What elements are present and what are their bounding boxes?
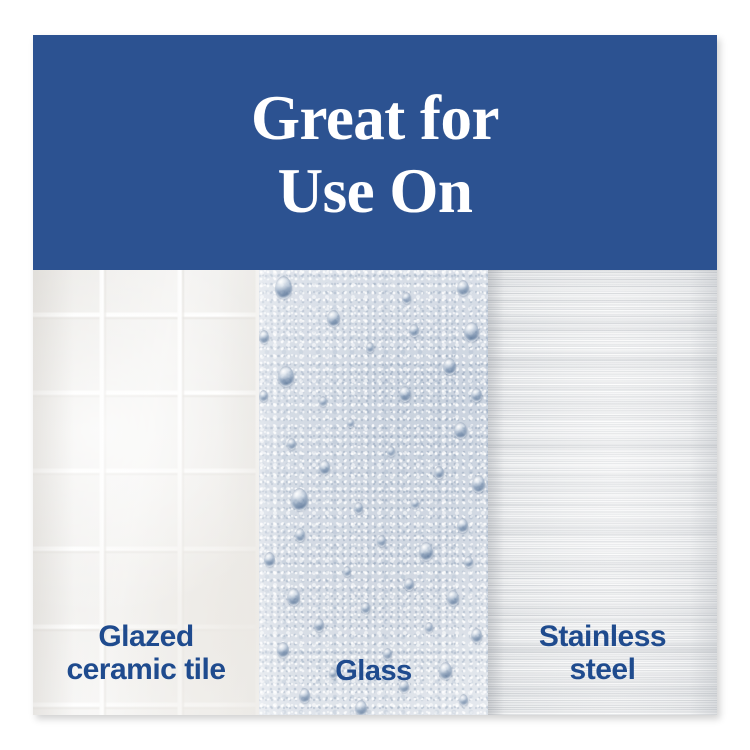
- water-droplet: [361, 602, 370, 614]
- screenshot-root: Great for Use On: [0, 0, 750, 750]
- water-droplet: [399, 386, 411, 402]
- water-droplet: [347, 418, 354, 428]
- headline-line-1: Great for: [251, 87, 499, 149]
- panel-stainless-steel: [488, 270, 717, 715]
- water-droplet: [383, 648, 392, 660]
- water-droplet: [287, 438, 296, 450]
- water-droplet: [355, 700, 367, 715]
- surface-panels: [33, 270, 717, 715]
- water-droplet: [295, 528, 305, 542]
- stainless-steel-light-sheen: [488, 270, 717, 715]
- water-droplet: [404, 578, 414, 591]
- water-droplet: [259, 330, 269, 344]
- water-droplet: [434, 466, 444, 479]
- water-droplet: [459, 694, 468, 706]
- water-droplet: [464, 322, 479, 342]
- water-droplet: [399, 680, 409, 693]
- water-droplet: [343, 566, 351, 577]
- water-droplet: [354, 502, 363, 514]
- water-droplet: [457, 280, 469, 296]
- water-droplet: [439, 662, 452, 680]
- headline-line-2: Use On: [278, 160, 473, 222]
- water-droplet: [366, 342, 374, 353]
- water-droplet: [287, 588, 300, 606]
- water-droplet: [291, 488, 308, 511]
- water-droplet: [425, 622, 433, 633]
- water-droplet: [299, 688, 310, 703]
- product-feature-card: Great for Use On: [33, 35, 717, 715]
- water-droplet: [447, 590, 459, 606]
- water-droplet: [454, 422, 467, 439]
- water-droplet: [278, 366, 294, 387]
- water-droplet: [419, 542, 433, 561]
- water-droplet: [259, 390, 268, 402]
- water-droplet: [471, 388, 482, 402]
- header-band: Great for Use On: [33, 35, 717, 270]
- water-droplet: [264, 552, 275, 567]
- water-droplet: [443, 358, 456, 375]
- water-droplet: [402, 292, 411, 304]
- panel-glazed-ceramic-tile: [33, 270, 259, 715]
- water-droplet: [472, 475, 485, 493]
- water-droplet: [314, 618, 324, 632]
- water-droplet: [457, 518, 468, 533]
- water-droplet: [377, 535, 386, 547]
- water-droplet: [387, 446, 395, 457]
- panel-glass: [259, 270, 488, 715]
- water-droplet: [409, 324, 419, 337]
- ceramic-tile-edge-shading: [33, 270, 259, 715]
- water-droplet: [329, 668, 337, 679]
- water-droplet: [471, 628, 482, 643]
- water-droplet: [319, 460, 330, 475]
- water-droplet: [319, 396, 327, 407]
- water-droplet: [277, 642, 289, 658]
- water-droplet: [275, 276, 292, 299]
- water-droplet: [464, 556, 473, 568]
- water-droplet: [411, 498, 419, 509]
- water-droplet: [327, 310, 340, 327]
